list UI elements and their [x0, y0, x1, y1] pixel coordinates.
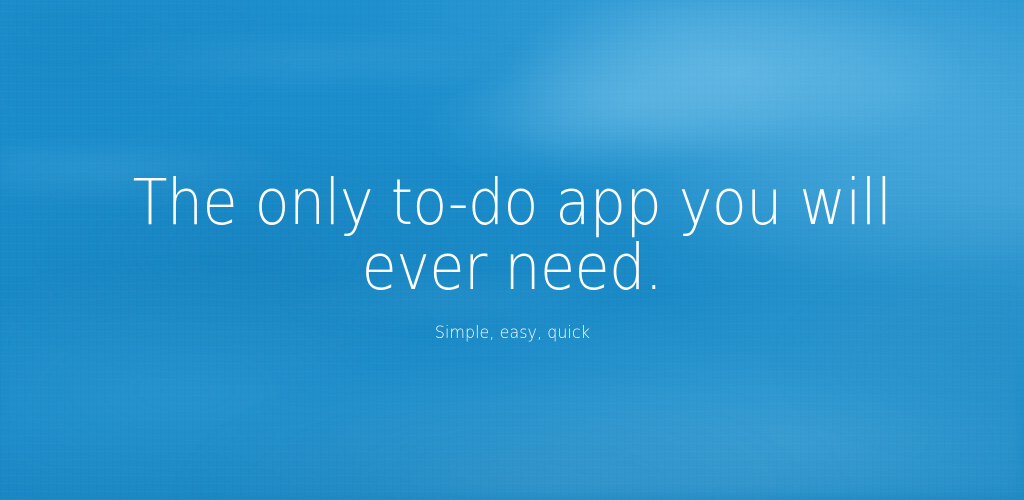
- hero-content: The only to-do app you will ever need. S…: [0, 0, 1024, 500]
- hero-headline: The only to-do app you will ever need.: [49, 171, 976, 301]
- hero-banner: The only to-do app you will ever need. S…: [0, 0, 1024, 500]
- hero-subline: Simple, easy, quick: [434, 323, 589, 343]
